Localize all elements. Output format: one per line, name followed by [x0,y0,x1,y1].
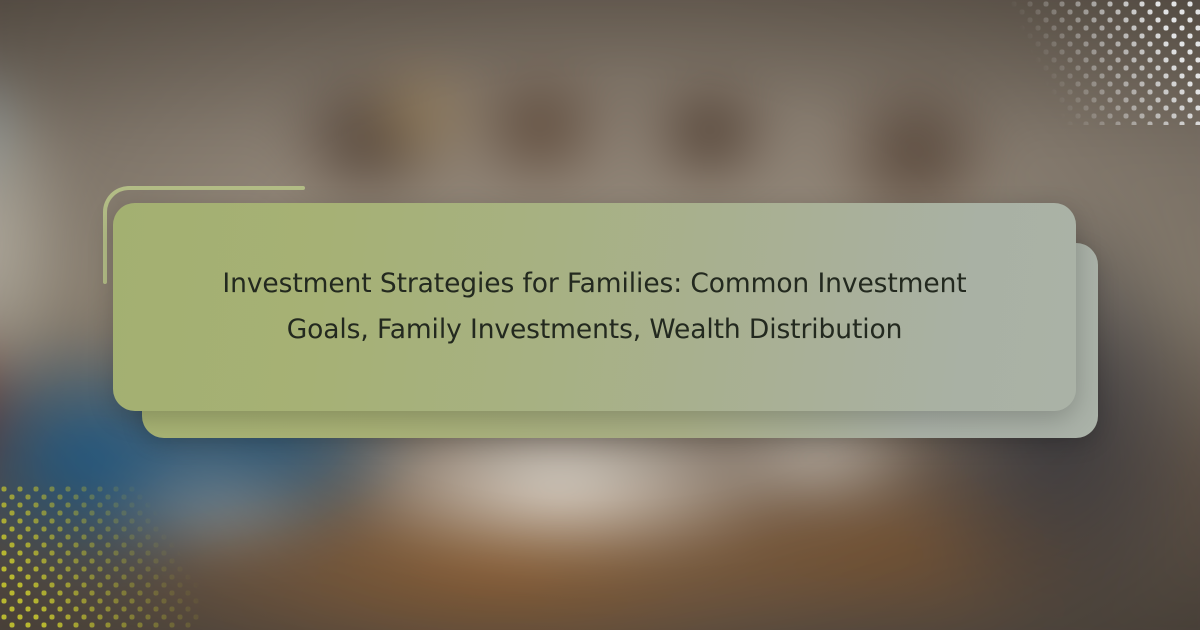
title-card: Investment Strategies for Families: Comm… [113,203,1076,411]
share-card-canvas: Investment Strategies for Families: Comm… [0,0,1200,630]
page-title: Investment Strategies for Families: Comm… [215,261,975,353]
